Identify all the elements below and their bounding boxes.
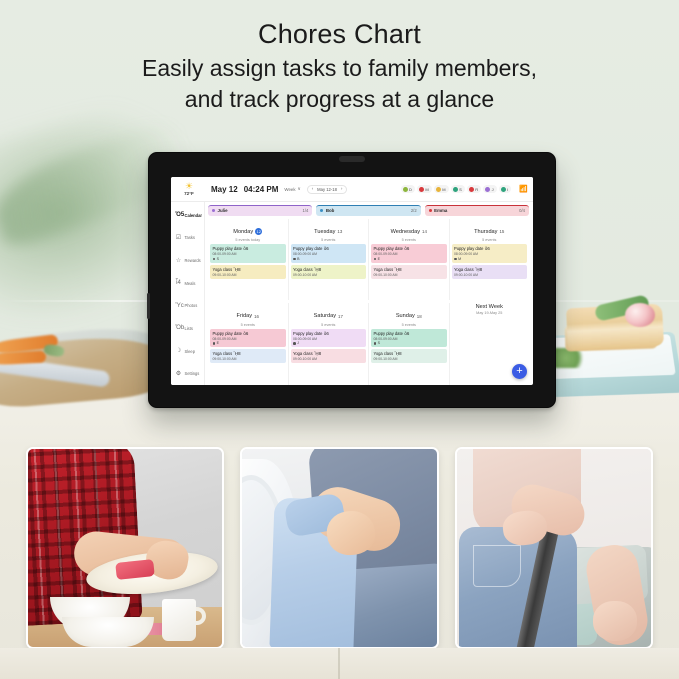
member-filter-chips: DMMSRJI	[401, 185, 512, 192]
event-title-row: Puppy play dateὃ6	[293, 331, 364, 336]
lists-icon: Ὄb	[175, 325, 182, 331]
day-header: Wednesday145 events	[371, 219, 447, 245]
table-seam	[338, 648, 340, 679]
event-title: Yoga class	[293, 351, 313, 356]
event-emoji-icon: ᾝ8	[475, 267, 482, 272]
event-title-row: Puppy play dateὃ6	[213, 331, 284, 336]
day-name: Thursday	[474, 229, 497, 235]
today-badge: 12	[255, 228, 262, 235]
member-progress-cards: Julie1/4Bob2/2Emma0/4	[208, 205, 529, 216]
current-time: 04:24 PM	[244, 185, 279, 194]
next-week-icon[interactable]: ›	[341, 187, 342, 191]
member-color-dot	[485, 187, 490, 192]
day-header: Saturday175 events	[291, 303, 367, 329]
event-owner-dot	[374, 342, 377, 345]
next-week-header: Next WeekMay 19-May 25	[452, 303, 528, 315]
hero-text-block: Chores Chart Easily assign tasks to fami…	[0, 18, 679, 115]
sidebar-item-label: Tasks	[185, 235, 195, 240]
member-chip-m-1[interactable]: M	[417, 185, 432, 192]
day-header: Thursday155 events	[452, 219, 528, 245]
event-time: 08:00-09:00 AM	[213, 252, 284, 256]
calendar-event[interactable]: Yoga classᾝ809:00-10:00 AM	[291, 265, 367, 279]
sidebar-item-label: Rewards	[185, 258, 201, 263]
event-time: 09:00-10:00 AM	[213, 273, 284, 277]
day-column-friday[interactable]: Friday165 eventsPuppy play dateὃ608:00-0…	[208, 303, 289, 385]
day-column-saturday[interactable]: Saturday175 eventsPuppy play dateὃ608:00…	[289, 303, 370, 385]
day-event-count: 5 events	[291, 323, 367, 327]
event-list: Puppy play dateὃ608:00-09:00 AMJYoga cla…	[291, 329, 367, 363]
day-name-row: Monday12	[233, 228, 262, 235]
calendar-event[interactable]: Puppy play dateὃ608:00-09:00 AMS	[210, 244, 286, 263]
day-event-count: 5 events	[452, 238, 528, 242]
day-number: 17	[338, 314, 343, 319]
wifi-icon: 📶	[519, 185, 528, 193]
member-initial: S	[459, 187, 462, 192]
event-title-row: Yoga classᾝ8	[374, 267, 445, 272]
member-color-dot	[453, 187, 458, 192]
event-time: 08:00-09:00 AM	[374, 252, 445, 256]
sidebar-item-label: Sleep	[185, 349, 195, 354]
event-emoji-icon: ὃ6	[243, 246, 248, 251]
event-emoji-icon: ᾝ8	[314, 351, 321, 356]
event-list: Puppy play dateὃ608:00-09:00 AMSYoga cla…	[371, 329, 447, 363]
day-column-sunday[interactable]: Sunday185 eventsPuppy play dateὃ608:00-0…	[369, 303, 450, 385]
sidebar-item-calendar[interactable]: Ὄ5Calendar	[171, 204, 204, 227]
calendar-event[interactable]: Puppy play dateὃ608:00-09:00 AMS	[371, 329, 447, 348]
day-name-row: Wednesday14	[391, 229, 427, 235]
day-header: Sunday185 events	[371, 303, 447, 329]
event-emoji-icon: ᾝ8	[395, 351, 402, 356]
event-title-row: Yoga classᾝ8	[293, 351, 364, 356]
calendar-event[interactable]: Yoga classᾝ809:00-10:00 AM	[452, 265, 528, 279]
day-column-wednesday[interactable]: Wednesday145 eventsPuppy play dateὃ608:0…	[369, 219, 450, 301]
event-time: 08:00-09:00 AM	[374, 337, 445, 341]
event-time: 09:00-10:00 AM	[374, 273, 445, 277]
sidebar-item-label: Calendar	[185, 213, 203, 218]
photo3-lower-hand	[593, 601, 637, 641]
day-event-count: 5 events	[371, 238, 447, 242]
add-event-button[interactable]: +	[512, 364, 527, 379]
week-calendar-grid: Monday125 events todayPuppy play dateὃ60…	[208, 219, 529, 385]
event-emoji-icon: ᾝ8	[395, 267, 402, 272]
member-dot	[212, 209, 215, 212]
current-date: May 12	[211, 185, 238, 194]
event-owner: E	[213, 341, 284, 345]
member-initial: J	[492, 187, 494, 192]
day-number: 16	[254, 314, 259, 319]
photo-strip	[26, 447, 653, 649]
hero-subtitle-line2: and track progress at a glance	[0, 84, 679, 115]
calendar-event[interactable]: Puppy play dateὃ608:00-09:00 AMM	[452, 244, 528, 263]
date-range-label: May 12-18	[317, 187, 337, 192]
member-task-count: 2/2	[411, 208, 417, 213]
event-time: 09:00-10:00 AM	[293, 273, 364, 277]
event-time: 09:00-10:00 AM	[293, 357, 364, 361]
event-owner: E	[374, 257, 445, 261]
event-title: Puppy play date	[213, 246, 242, 251]
next-week-title: Next Week	[452, 304, 528, 310]
calendar-icon: Ὄ5	[175, 212, 182, 218]
chevron-down-icon: ∨	[298, 186, 301, 192]
member-chip-j-5[interactable]: J	[483, 185, 497, 192]
member-name: Emma	[434, 208, 447, 213]
camera-notch	[339, 156, 365, 162]
calendar-event[interactable]: Puppy play dateὃ608:00-09:00 AME	[210, 329, 286, 348]
calendar-event[interactable]: Yoga classᾝ809:00-10:00 AM	[371, 349, 447, 363]
event-owner-dot	[374, 258, 377, 261]
sun-icon: ☀	[173, 182, 205, 191]
event-owner-dot	[213, 342, 216, 345]
member-chip-m-2[interactable]: M	[434, 185, 449, 192]
tablet-device: ☀ 72°F May 12 04:24 PM Week ∨ ‹ May 12-1…	[148, 152, 556, 408]
rewards-icon: ☆	[175, 258, 182, 264]
day-name-row: Friday16	[237, 313, 259, 319]
member-color-dot	[469, 187, 474, 192]
event-title-row: Puppy play dateὃ6	[213, 246, 284, 251]
event-time: 09:00-10:00 AM	[454, 273, 525, 277]
event-emoji-icon: ᾝ8	[234, 351, 241, 356]
app-sidebar: Ὄ5Calendar☑Tasks☆Rewardsἷ4MealsὛcPhotosὌ…	[171, 202, 205, 385]
event-time: 09:00-10:00 AM	[213, 357, 284, 361]
sidebar-item-photos[interactable]: ὛcPhotos	[171, 295, 204, 318]
day-number: 15	[499, 229, 504, 234]
event-owner-initial: M	[458, 257, 461, 261]
photo3-jeans-pocket	[473, 545, 521, 587]
day-name: Monday	[233, 229, 253, 235]
member-dot	[429, 209, 432, 212]
member-initial: M	[442, 187, 445, 192]
event-owner-initial: E	[378, 257, 380, 261]
member-initial: M	[425, 187, 428, 192]
member-color-dot	[501, 187, 506, 192]
event-title: Puppy play date	[374, 246, 403, 251]
photo1-mug	[162, 599, 196, 641]
weather-widget[interactable]: ☀ 72°F	[173, 182, 205, 197]
calendar-event[interactable]: Puppy play dateὃ608:00-09:00 AMJ	[291, 329, 367, 348]
sidebar-item-label: Settings	[185, 371, 200, 376]
event-owner-dot	[293, 258, 296, 261]
event-owner-initial: B	[297, 257, 299, 261]
tablet-screen: ☀ 72°F May 12 04:24 PM Week ∨ ‹ May 12-1…	[171, 177, 533, 385]
event-owner-initial: E	[217, 341, 219, 345]
member-chip-s-3[interactable]: S	[451, 185, 465, 192]
event-owner-initial: J	[297, 341, 299, 345]
day-name-row: Thursday15	[474, 229, 504, 235]
date-range-navigator[interactable]: ‹ May 12-18 ›	[307, 185, 348, 194]
sidebar-item-label: Photos	[185, 303, 198, 308]
member-chip-r-4[interactable]: R	[467, 185, 481, 192]
day-header: Friday165 events	[210, 303, 286, 329]
day-header: Tuesday135 events	[291, 219, 367, 245]
weather-temperature: 72°F	[173, 192, 205, 197]
event-title: Yoga class	[374, 267, 394, 272]
member-color-dot	[436, 187, 441, 192]
event-emoji-icon: ὃ6	[324, 331, 329, 336]
vacuuming-photo	[455, 447, 653, 649]
event-list: Puppy play dateὃ608:00-09:00 AMSYoga cla…	[210, 244, 286, 278]
event-title: Yoga class	[213, 351, 233, 356]
hero-subtitle-line1: Easily assign tasks to family members,	[0, 53, 679, 84]
tasks-icon: ☑	[175, 235, 182, 241]
photos-icon: Ὓc	[175, 303, 182, 309]
washing-dishes-photo	[26, 447, 224, 649]
event-owner-initial: S	[378, 341, 380, 345]
event-title: Puppy play date	[454, 246, 483, 251]
sidebar-item-settings[interactable]: ⚙Settings	[171, 362, 204, 385]
event-title: Puppy play date	[213, 331, 242, 336]
event-emoji-icon: ὃ6	[404, 246, 409, 251]
sidebar-item-tasks[interactable]: ☑Tasks	[171, 227, 204, 250]
day-name-row: Saturday17	[314, 313, 343, 319]
calendar-event[interactable]: Yoga classᾝ809:00-10:00 AM	[291, 349, 367, 363]
day-name: Sunday	[396, 313, 415, 319]
calendar-event[interactable]: Yoga classᾝ809:00-10:00 AM	[210, 265, 286, 279]
event-owner: J	[293, 341, 364, 345]
event-owner: B	[293, 257, 364, 261]
day-name: Tuesday	[314, 229, 335, 235]
calendar-event[interactable]: Yoga classᾝ809:00-10:00 AM	[371, 265, 447, 279]
prev-week-icon[interactable]: ‹	[312, 187, 313, 191]
calendar-row: Friday165 eventsPuppy play dateὃ608:00-0…	[208, 303, 529, 385]
event-owner: M	[454, 257, 525, 261]
sidebar-item-rewards[interactable]: ☆Rewards	[171, 249, 204, 272]
power-button[interactable]	[147, 293, 150, 319]
member-task-count: 1/4	[303, 208, 309, 213]
event-owner-dot	[293, 342, 296, 345]
settings-icon: ⚙	[175, 371, 182, 377]
view-mode-label: Week	[284, 187, 295, 192]
day-event-count: 5 events	[291, 238, 367, 242]
event-emoji-icon: ὃ6	[324, 246, 329, 251]
sidebar-item-lists[interactable]: ὌbLists	[171, 317, 204, 340]
event-list: Puppy play dateὃ608:00-09:00 AMBYoga cla…	[291, 244, 367, 278]
event-time: 09:00-10:00 AM	[374, 357, 445, 361]
event-time: 08:00-09:00 AM	[293, 337, 364, 341]
event-emoji-icon: ὃ6	[243, 331, 248, 336]
member-initial: I	[507, 187, 508, 192]
event-title: Yoga class	[374, 351, 394, 356]
day-name: Saturday	[314, 313, 336, 319]
event-list: Puppy play dateὃ608:00-09:00 AMEYoga cla…	[210, 329, 286, 363]
member-initial: R	[475, 187, 478, 192]
day-column-monday[interactable]: Monday125 events todayPuppy play dateὃ60…	[208, 219, 289, 301]
day-column-tuesday[interactable]: Tuesday135 eventsPuppy play dateὃ608:00-…	[289, 219, 370, 301]
day-name: Friday	[237, 313, 253, 319]
event-title-row: Puppy play dateὃ6	[374, 331, 445, 336]
event-title-row: Yoga classᾝ8	[293, 267, 364, 272]
event-title: Puppy play date	[374, 331, 403, 336]
event-title: Yoga class	[213, 267, 233, 272]
event-owner-dot	[454, 258, 457, 261]
member-name: Bob	[326, 208, 335, 213]
day-name-row: Tuesday13	[314, 229, 342, 235]
next-week-range: May 19-May 25	[452, 311, 528, 315]
event-emoji-icon: ὃ6	[404, 331, 409, 336]
calendar-row: Monday125 events todayPuppy play dateὃ60…	[208, 219, 529, 301]
event-title: Puppy play date	[293, 246, 322, 251]
event-emoji-icon: ὃ6	[485, 246, 490, 251]
calendar-event[interactable]: Puppy play dateὃ608:00-09:00 AME	[371, 244, 447, 263]
sleep-icon: ☽	[175, 348, 182, 354]
event-list: Puppy play dateὃ608:00-09:00 AMMYoga cla…	[452, 244, 528, 278]
event-emoji-icon: ᾝ8	[314, 267, 321, 272]
event-title: Yoga class	[454, 267, 474, 272]
event-title-row: Yoga classᾝ8	[454, 267, 525, 272]
day-column-thursday[interactable]: Thursday155 eventsPuppy play dateὃ608:00…	[450, 219, 530, 301]
event-title-row: Puppy play dateὃ6	[374, 246, 445, 251]
page-title: Chores Chart	[0, 18, 679, 52]
calendar-event[interactable]: Yoga classᾝ809:00-10:00 AM	[210, 349, 286, 363]
event-title-row: Yoga classᾝ8	[213, 351, 284, 356]
day-number: 13	[337, 229, 342, 234]
event-title-row: Puppy play dateὃ6	[293, 246, 364, 251]
event-emoji-icon: ᾝ8	[234, 267, 241, 272]
day-number: 18	[417, 314, 422, 319]
event-owner-initial: S	[217, 257, 219, 261]
event-title-row: Yoga classᾝ8	[213, 267, 284, 272]
member-color-dot	[419, 187, 424, 192]
view-mode-dropdown[interactable]: Week ∨	[284, 186, 300, 192]
member-chip-i-6[interactable]: I	[499, 185, 512, 192]
member-color-dot	[403, 187, 408, 192]
event-owner-dot	[213, 258, 216, 261]
app-topbar: ☀ 72°F May 12 04:24 PM Week ∨ ‹ May 12-1…	[171, 177, 533, 202]
calendar-event[interactable]: Puppy play dateὃ608:00-09:00 AMB	[291, 244, 367, 263]
member-card-emma[interactable]: Emma0/4	[425, 205, 529, 216]
day-event-count: 5 events	[210, 323, 286, 327]
event-title-row: Puppy play dateὃ6	[454, 246, 525, 251]
calendar-content: Julie1/4Bob2/2Emma0/4 Monday125 events t…	[205, 202, 533, 385]
event-title-row: Yoga classᾝ8	[374, 351, 445, 356]
member-card-julie[interactable]: Julie1/4	[208, 205, 312, 216]
radish-slice	[625, 303, 655, 327]
meals-icon: ἷ4	[175, 280, 182, 286]
app-body: Ὄ5Calendar☑Tasks☆Rewardsἷ4MealsὛcPhotosὌ…	[171, 202, 533, 385]
event-owner: S	[374, 341, 445, 345]
day-event-count: 5 events today	[210, 238, 286, 242]
event-time: 08:00-09:00 AM	[454, 252, 525, 256]
member-dot	[320, 209, 323, 212]
day-name-row: Sunday18	[396, 313, 422, 319]
sidebar-item-label: Meals	[185, 281, 196, 286]
folding-laundry-photo	[240, 447, 438, 649]
member-name: Julie	[218, 208, 228, 213]
event-owner: S	[213, 257, 284, 261]
event-list: Puppy play dateὃ608:00-09:00 AMEYoga cla…	[371, 244, 447, 278]
sidebar-item-sleep[interactable]: ☽Sleep	[171, 340, 204, 363]
member-task-count: 0/4	[519, 208, 525, 213]
event-time: 08:00-09:00 AM	[213, 337, 284, 341]
day-event-count: 5 events	[371, 323, 447, 327]
member-initial: D	[409, 187, 412, 192]
member-card-bob[interactable]: Bob2/2	[316, 205, 420, 216]
sidebar-item-meals[interactable]: ἷ4Meals	[171, 272, 204, 295]
day-number: 14	[422, 229, 427, 234]
sidebar-item-label: Lists	[185, 326, 193, 331]
event-title: Puppy play date	[293, 331, 322, 336]
event-title: Yoga class	[293, 267, 313, 272]
day-header: Monday125 events today	[210, 219, 286, 245]
member-chip-d-0[interactable]: D	[401, 185, 415, 192]
event-time: 08:00-09:00 AM	[293, 252, 364, 256]
day-name: Wednesday	[391, 229, 420, 235]
